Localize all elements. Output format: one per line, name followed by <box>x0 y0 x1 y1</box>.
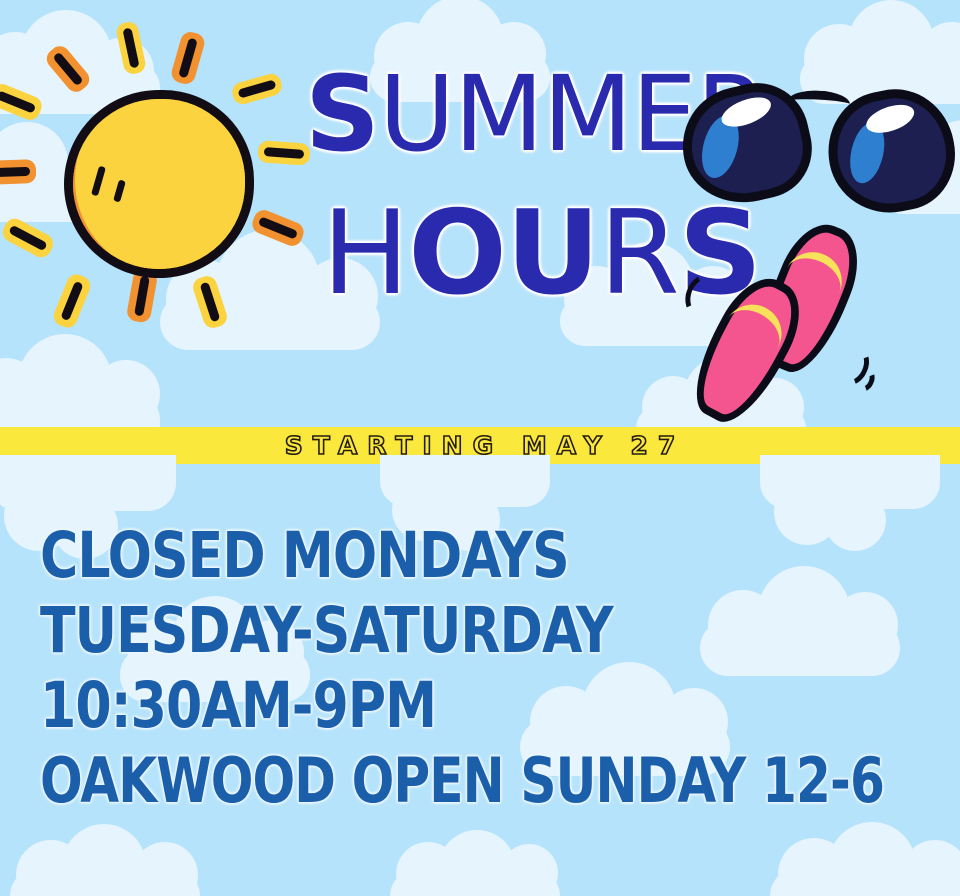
sun-ray <box>115 20 147 75</box>
sun-ray <box>51 271 93 330</box>
sun-ray <box>230 72 284 107</box>
title-summer-s: S <box>305 53 379 175</box>
sun-ray <box>0 81 45 123</box>
sun-ray <box>169 30 206 87</box>
sun-ray <box>191 274 230 331</box>
summer-hours-poster: SUMMER HOURS STARTING MAY 27 <box>0 0 960 896</box>
hours-line: 10:30AM-9PM <box>40 668 868 743</box>
hours-line: TUESDAY-SATURDAY <box>40 593 868 668</box>
starting-date-banner: STARTING MAY 27 <box>0 427 960 464</box>
sun-ray <box>0 215 57 261</box>
flip-flops-icon <box>710 222 910 422</box>
sun-ray <box>257 140 310 166</box>
title-hours-u: U <box>506 186 599 321</box>
sun-ray <box>249 207 306 249</box>
sun-icon <box>0 18 330 348</box>
sun-ray <box>43 42 94 96</box>
sun-ray <box>0 159 36 185</box>
sun-disc <box>64 90 254 278</box>
title-hours-r: R <box>599 186 679 321</box>
hours-text-block: CLOSED MONDAYS TUESDAY-SATURDAY 10:30AM-… <box>40 518 940 818</box>
hours-line: OAKWOOD OPEN SUNDAY 12-6 <box>40 743 850 818</box>
hours-line: CLOSED MONDAYS <box>40 518 868 593</box>
title-hours-h: H <box>322 186 408 321</box>
title-hours-o: O <box>408 186 506 321</box>
starting-date-text: STARTING MAY 27 <box>275 431 686 460</box>
